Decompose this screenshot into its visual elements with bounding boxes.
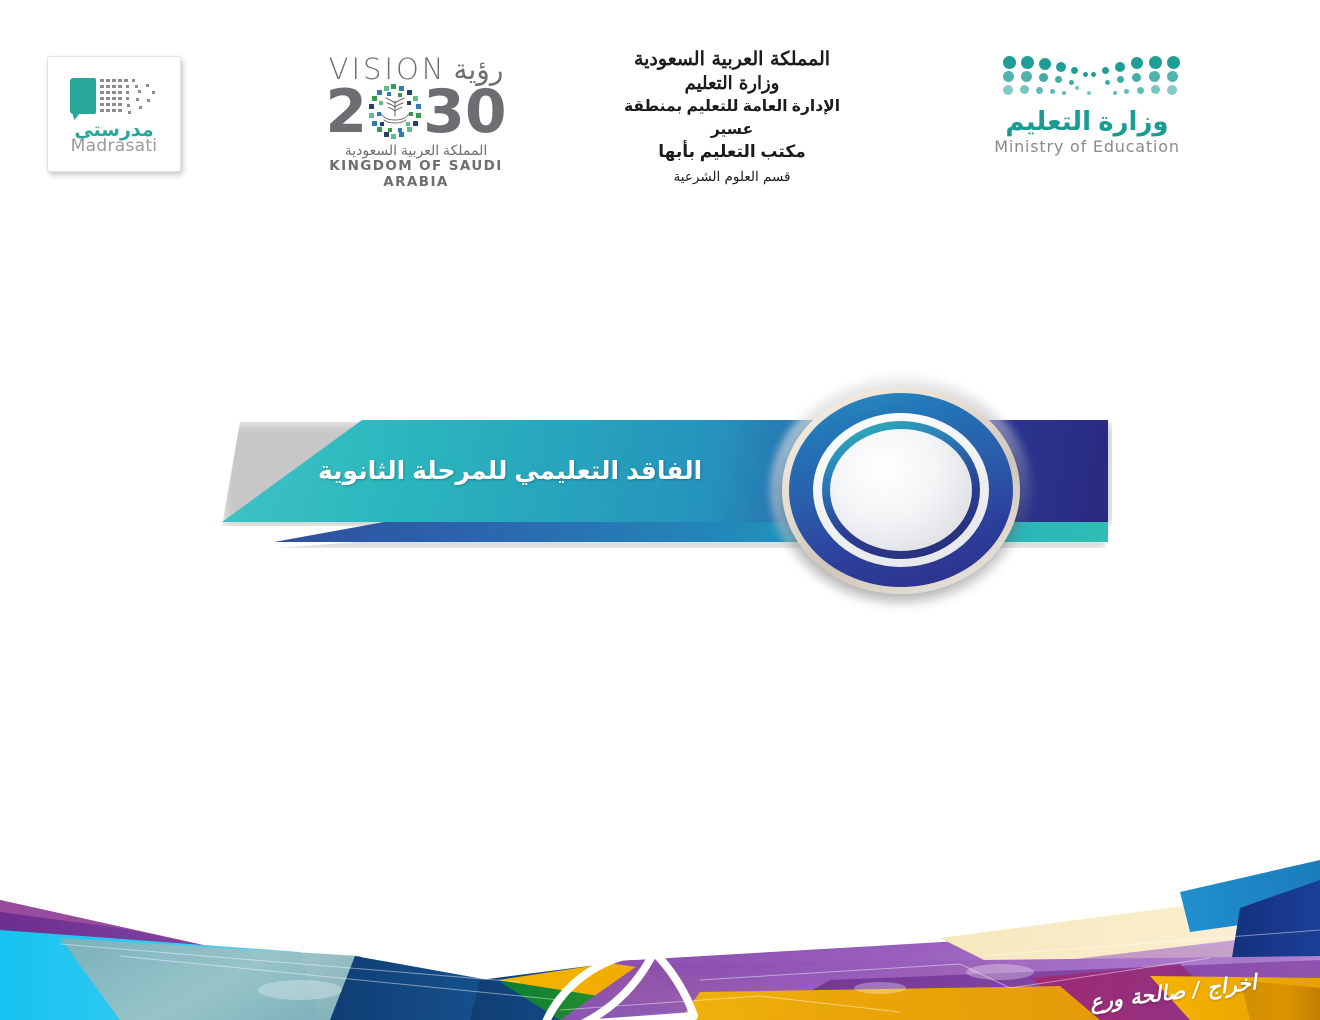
page-title: الفاقد التعليمي للمرحلة الثانوية (300, 420, 740, 522)
madrasati-latin-label: Madrasati (71, 138, 158, 155)
vision-kingdom-en: KINGDOM OF SAUDI ARABIA (296, 158, 536, 190)
book-pixels-icon (68, 75, 160, 119)
vision-2030-logo: VISION رؤية 2 (296, 52, 536, 170)
ministry-line-directorate: الإدارة العامة للتعليم بمنطقة عسير (604, 96, 860, 141)
concentric-circles-emblem (770, 376, 1032, 604)
moe-english-label: Ministry of Education (972, 139, 1202, 155)
ministry-line-office: مكتب التعليم بأبها (604, 141, 860, 164)
vision-digit-2: 2 (325, 82, 367, 142)
emblem-inner-disc (830, 429, 972, 551)
quill-pen-icon (1232, 928, 1286, 968)
signature-block: اخراج / صالحة ورع (1092, 926, 1292, 998)
ministry-header-text: المملكة العربية السعودية وزارة التعليم ا… (604, 48, 860, 187)
madrasati-logo: مدرستي Madrasati (47, 56, 181, 172)
ministry-line-kingdom: المملكة العربية السعودية (604, 48, 860, 72)
header-logo-row: مدرستي Madrasati VISION رؤية 2 (0, 0, 1320, 215)
moe-arabic-label: وزارة التعليم (972, 108, 1202, 134)
vision-digits-30: 30 (423, 82, 507, 142)
saudi-palm-swords-mosaic-icon (365, 83, 425, 141)
slide-page: مدرستي Madrasati VISION رؤية 2 (0, 0, 1320, 1020)
ministry-line-ministry: وزارة التعليم (604, 72, 860, 95)
decorative-ribbon: اخراج / صالحة ورع (0, 860, 1320, 1020)
title-banner: الفاقد التعليمي للمرحلة الثانوية (0, 360, 1320, 620)
ministry-of-education-logo: وزارة التعليم Ministry of Education (972, 54, 1202, 166)
ministry-line-department: قسم العلوم الشرعية (604, 167, 860, 187)
moe-dots-chevron-icon (987, 54, 1187, 96)
